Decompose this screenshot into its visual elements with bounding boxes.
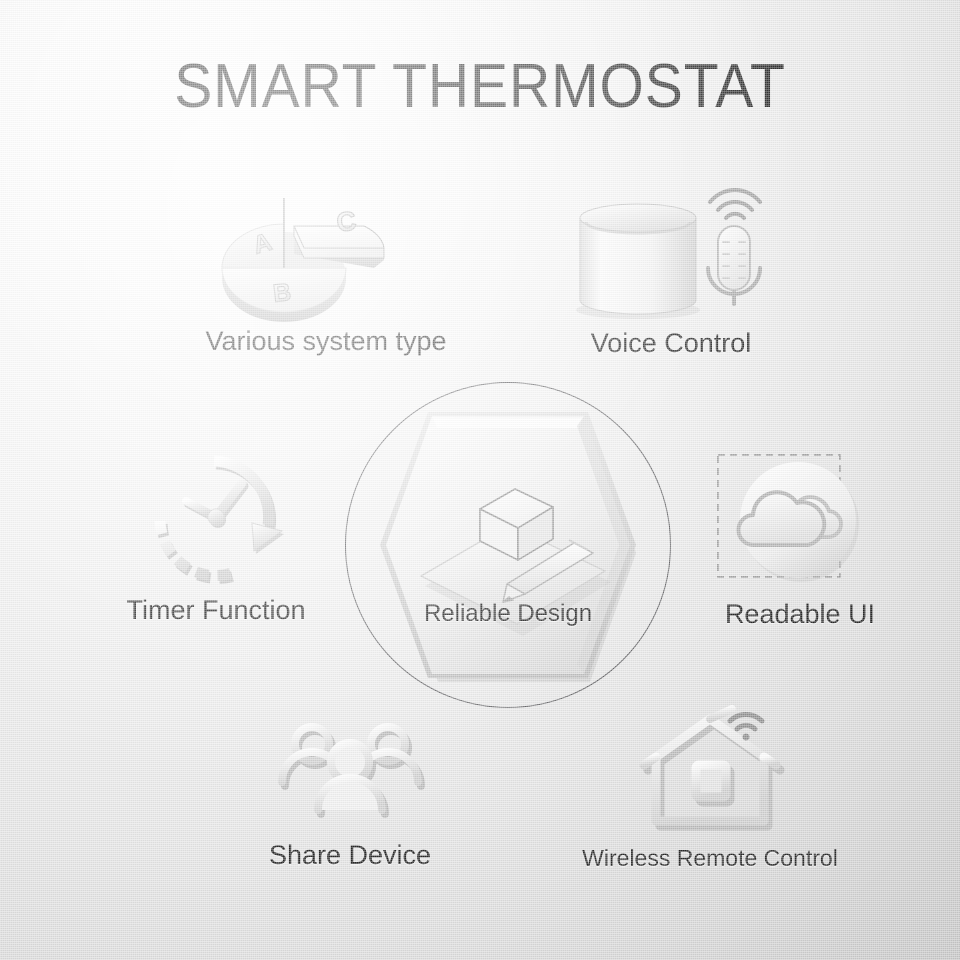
smart-speaker-microphone-icon	[530, 192, 812, 322]
house-wifi-icon	[510, 713, 910, 835]
feature-various-system-type[interactable]: A B C Various system type	[178, 192, 474, 357]
feature-label: Share Device	[238, 840, 462, 871]
pie-chart-3d-icon: A B C	[178, 192, 474, 322]
poster-canvas: SMART THERMOSTAT	[0, 0, 960, 960]
clouds-in-dashed-frame-icon	[690, 443, 910, 593]
feature-label: Wireless Remote Control	[510, 845, 910, 872]
feature-voice-control[interactable]: Voice Control	[530, 192, 812, 359]
feature-label: Voice Control	[530, 328, 812, 359]
center-hub-reliable-design[interactable]: Reliable Design	[341, 378, 675, 712]
page-title: SMART THERMOSTAT	[38, 56, 921, 118]
center-label: Reliable Design	[341, 600, 675, 628]
clock-arrow-timer-icon	[92, 455, 340, 587]
svg-text:C: C	[335, 206, 358, 238]
feature-wireless-remote-control[interactable]: Wireless Remote Control	[510, 713, 910, 872]
feature-timer-function[interactable]: Timer Function	[92, 455, 340, 626]
feature-readable-ui[interactable]: Readable UI	[690, 443, 910, 630]
feature-label: Timer Function	[92, 595, 340, 626]
svg-text:B: B	[272, 278, 293, 308]
feature-label: Various system type	[178, 326, 474, 357]
group-of-people-icon	[238, 712, 462, 834]
feature-label: Readable UI	[690, 599, 910, 630]
hub-circle-outline	[345, 382, 671, 708]
feature-share-device[interactable]: Share Device	[238, 712, 462, 871]
